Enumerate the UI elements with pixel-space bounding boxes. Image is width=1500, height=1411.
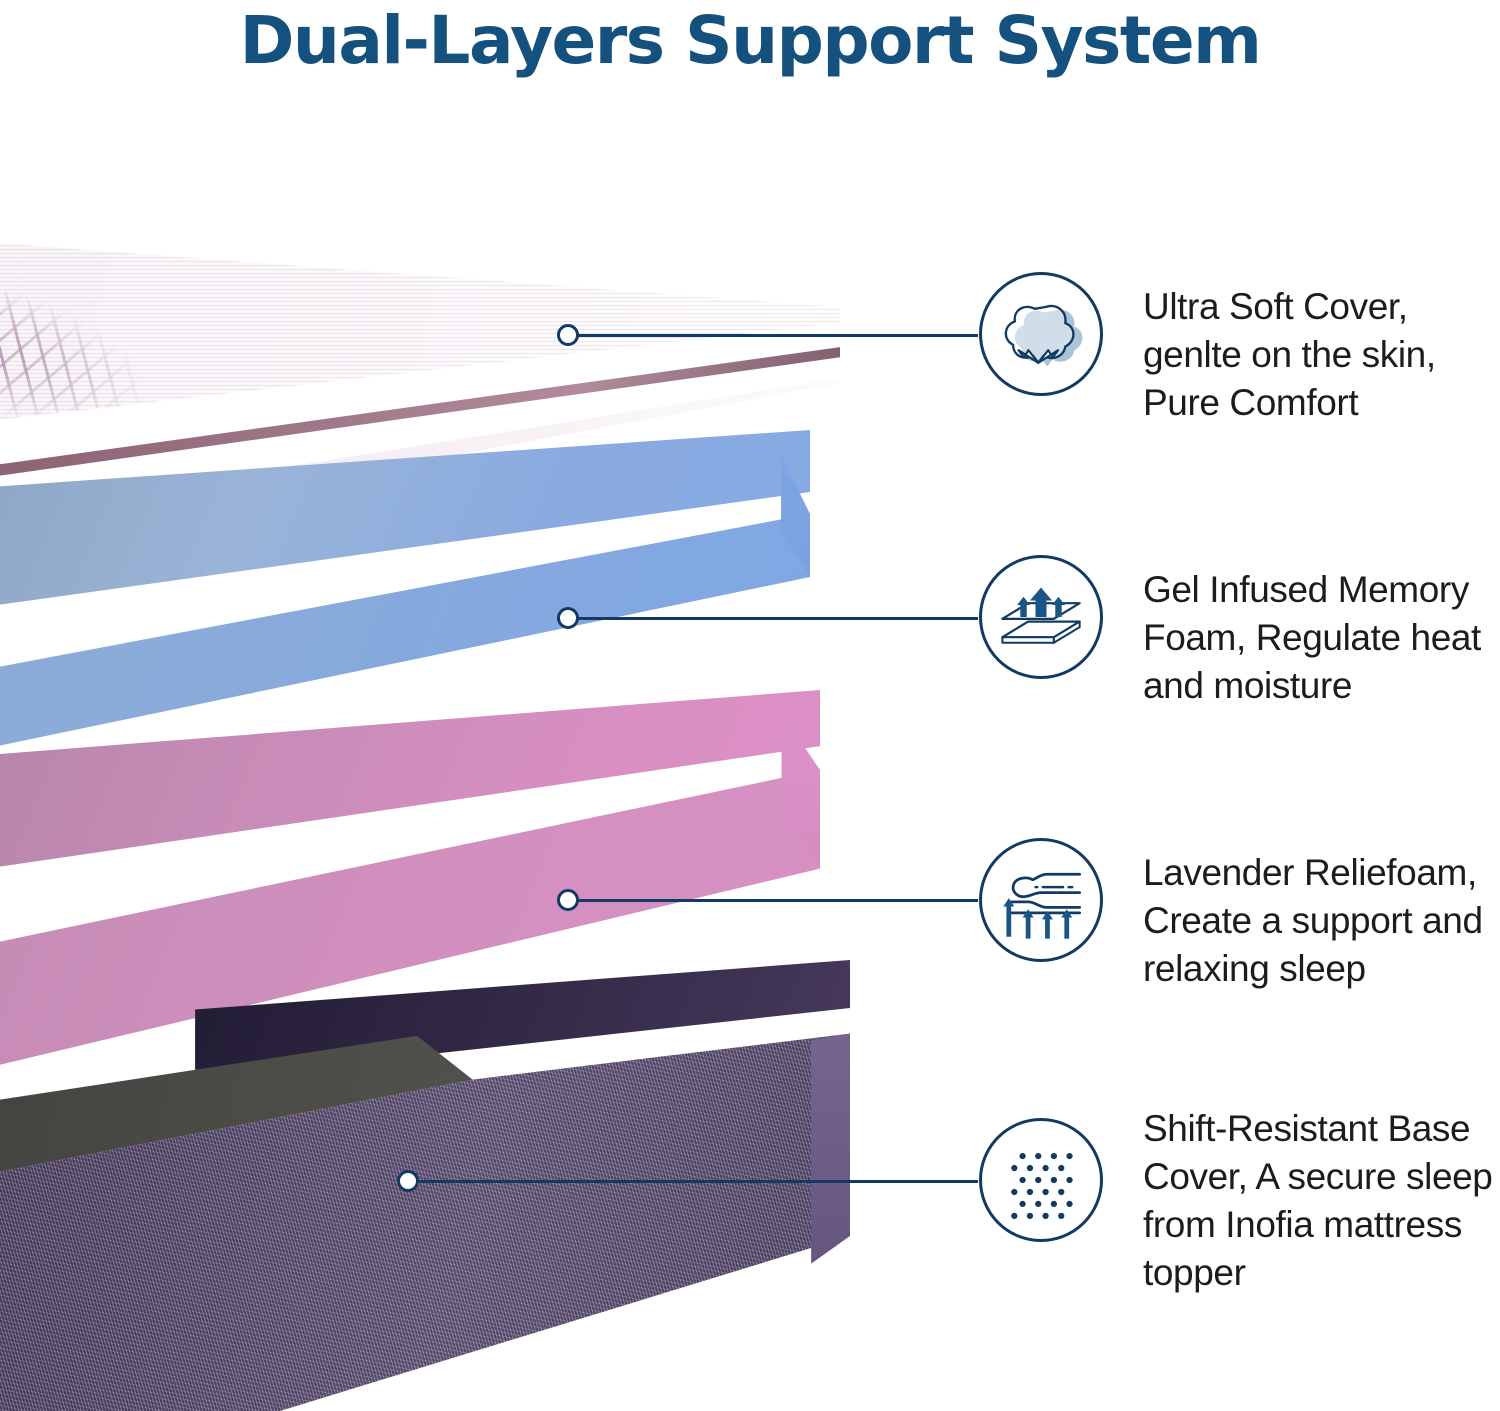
feature-1-line-2: genlte on the skin, (1143, 334, 1436, 375)
feature-text-2: Gel Infused MemoryFoam, Regulate heatand… (1143, 566, 1500, 710)
connector-dot-4 (397, 1170, 419, 1192)
feature-1-line-1: Ultra Soft Cover, (1143, 286, 1408, 327)
connector-dot-1 (557, 324, 579, 346)
feature-icon-3-reclining-person-support-icon (979, 838, 1103, 962)
feature-4-line-4: topper (1143, 1252, 1246, 1293)
feature-icon-1-cotton-boll-icon (979, 272, 1103, 396)
feature-3-line-3: relaxing sleep (1143, 948, 1366, 989)
feature-3-line-1: Lavender Reliefoam, (1143, 852, 1477, 893)
feature-text-3: Lavender Reliefoam,Create a support andr… (1143, 849, 1500, 993)
feature-4-line-2: Cover, A secure sleep (1143, 1156, 1492, 1197)
feature-3-line-2: Create a support and (1143, 900, 1483, 941)
connector-line-1 (578, 334, 978, 337)
cover-quilt-pattern (0, 227, 177, 459)
feature-4-line-1: Shift-Resistant Base (1143, 1108, 1470, 1149)
feature-icon-4-grip-dots-icon (979, 1118, 1103, 1242)
connector-line-4 (418, 1180, 978, 1183)
feature-text-1: Ultra Soft Cover,genlte on the skin,Pure… (1143, 283, 1500, 427)
feature-text-4: Shift-Resistant BaseCover, A secure slee… (1143, 1105, 1500, 1297)
reclining-person-support-icon (995, 854, 1087, 946)
grip-dots-icon (995, 1134, 1087, 1226)
feature-4-line-3: from Inofia mattress (1143, 1204, 1462, 1245)
feature-2-line-2: Foam, Regulate heat (1143, 617, 1481, 658)
infographic-canvas: Dual-Layers Support System (0, 0, 1500, 1411)
mattress-layers-illustration (0, 0, 900, 1411)
feature-2-line-3: and moisture (1143, 665, 1352, 706)
layer-shift-resistant-base (0, 960, 850, 1411)
cotton-boll-icon (996, 289, 1086, 379)
feature-icon-2-foam-layers-arrows-icon (979, 555, 1103, 679)
feature-1-line-3: Pure Comfort (1143, 382, 1358, 423)
connector-line-2 (578, 617, 978, 620)
foam-layers-arrows-icon (995, 571, 1087, 663)
connector-line-3 (578, 899, 978, 902)
feature-2-line-1: Gel Infused Memory (1143, 569, 1469, 610)
connector-dot-3 (557, 889, 579, 911)
connector-dot-2 (557, 607, 579, 629)
